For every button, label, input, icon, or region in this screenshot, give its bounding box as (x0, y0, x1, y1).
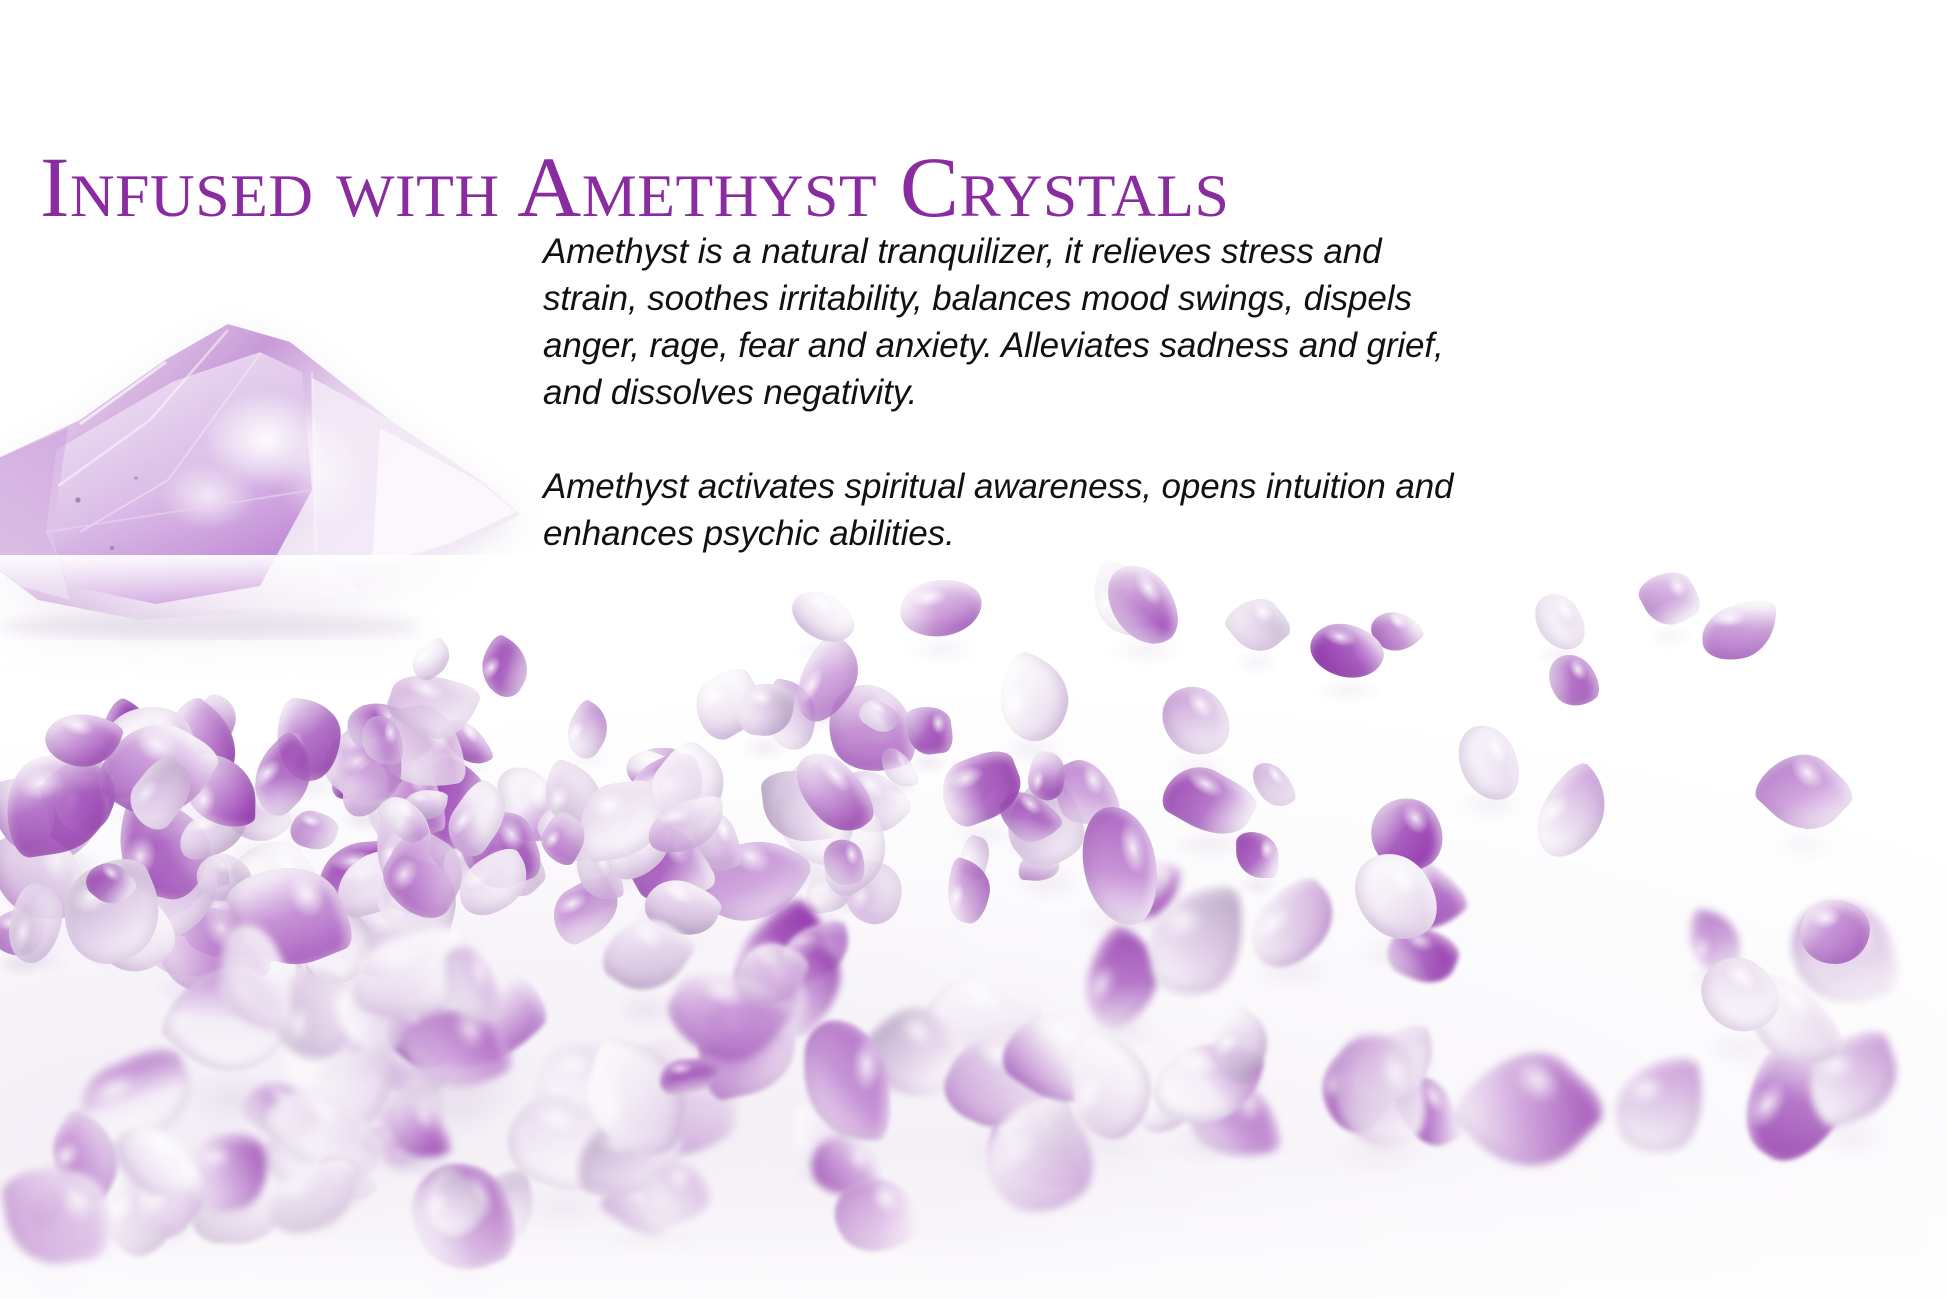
crystal-chip (1446, 1027, 1613, 1194)
chip-highlight (795, 663, 829, 707)
chip-highlight (1530, 788, 1575, 833)
chip-highlight (1116, 818, 1151, 877)
crystal-chip (0, 748, 116, 859)
crystal-chip (1220, 587, 1295, 662)
chip-highlight (929, 711, 947, 735)
crystal-chip (557, 698, 618, 763)
crystal-chip (896, 574, 985, 641)
chip-highlight (1322, 624, 1359, 649)
chip-highlight (1663, 571, 1691, 601)
chip-highlight (1719, 955, 1763, 996)
chip-highlight (409, 791, 430, 803)
chip-highlight (844, 1142, 871, 1174)
chip-highlight (551, 1050, 594, 1077)
chip-highlight (1481, 728, 1513, 769)
chip-highlight (208, 852, 236, 877)
chip-highlight (747, 687, 774, 707)
crystal-chip (1633, 562, 1705, 634)
chip-highlight (1396, 798, 1434, 839)
crystal-chip (987, 649, 1081, 750)
chip-highlight (11, 913, 34, 952)
crystal-chip (1607, 1054, 1713, 1159)
chip-highlight (58, 711, 95, 739)
chip-highlight (1384, 608, 1409, 633)
crystal-chip (1149, 673, 1243, 768)
crystal-chip (1700, 600, 1778, 661)
chip-highlight (1081, 959, 1122, 1009)
chip-highlight (1250, 899, 1297, 945)
chip-highlight (383, 852, 424, 896)
chip-highlight (586, 790, 628, 821)
chip-highlight (1621, 1070, 1668, 1108)
crystal-chip (1516, 758, 1626, 867)
chip-highlight (554, 888, 590, 919)
chip-highlight (946, 881, 967, 912)
crystal-chip (1235, 868, 1349, 981)
chip-highlight (1785, 751, 1829, 795)
chip-highlight (1264, 762, 1286, 787)
chip-highlight (865, 1176, 906, 1220)
chip-highlight (1211, 1027, 1243, 1061)
chip-highlight (952, 968, 1010, 1021)
chip-highlight (1067, 1067, 1109, 1119)
chip-highlight (1551, 594, 1578, 625)
chip-highlight (1503, 1047, 1570, 1113)
chip-highlight (660, 1159, 696, 1195)
chip-highlight (541, 826, 564, 852)
chip-highlight (1738, 1072, 1794, 1135)
chip-highlight (1711, 607, 1746, 628)
chip-highlight (194, 1141, 235, 1173)
paragraph-2: Amethyst activates spiritual awareness, … (543, 463, 1483, 557)
chip-highlight (527, 1095, 585, 1141)
crystal-chip (940, 856, 996, 926)
crystal-chip (1448, 716, 1531, 810)
chip-highlight (478, 653, 505, 683)
chip-highlight (57, 1175, 98, 1225)
page-title: Infused with Amethyst Crystals (40, 144, 1229, 230)
chip-highlight (412, 647, 434, 667)
chip-highlight (627, 915, 670, 955)
chip-highlight (695, 680, 731, 713)
chip-highlight (997, 682, 1032, 726)
chip-highlight (792, 1124, 817, 1157)
chip-highlight (564, 718, 588, 746)
chip-highlight (1182, 685, 1220, 724)
chip-highlight (1692, 934, 1712, 964)
chip-highlight (1808, 906, 1841, 930)
chip-highlight (1030, 769, 1046, 793)
crystal-chip (470, 632, 539, 703)
crystal-chip (1236, 832, 1279, 878)
chip-highlight (843, 843, 860, 867)
chip-highlight (15, 764, 67, 803)
chip-highlight (1248, 597, 1278, 627)
chip-highlight (1078, 762, 1108, 799)
chip-highlight (945, 761, 987, 794)
chip-highlight (804, 590, 838, 618)
chip-highlight (1565, 655, 1591, 684)
slide-canvas: Infused with Amethyst Crystals Amethyst … (0, 0, 1946, 1298)
chip-highlight (1128, 566, 1167, 610)
description-text: Amethyst is a natural tranquilizer, it r… (543, 228, 1483, 557)
chip-highlight (1260, 838, 1275, 859)
chip-highlight (909, 585, 949, 609)
paragraph-1: Amethyst is a natural tranquilizer, it r… (543, 228, 1483, 416)
crystal-chip (1539, 646, 1605, 715)
chip-highlight (1374, 1042, 1416, 1101)
chip-highlight (299, 811, 323, 829)
crystal-chip (1749, 738, 1858, 847)
chip-highlight (82, 1066, 143, 1114)
crystal-chip (1525, 585, 1594, 659)
chip-highlight (667, 1062, 694, 1076)
chip-highlight (140, 1124, 180, 1168)
chip-highlight (1183, 765, 1228, 803)
